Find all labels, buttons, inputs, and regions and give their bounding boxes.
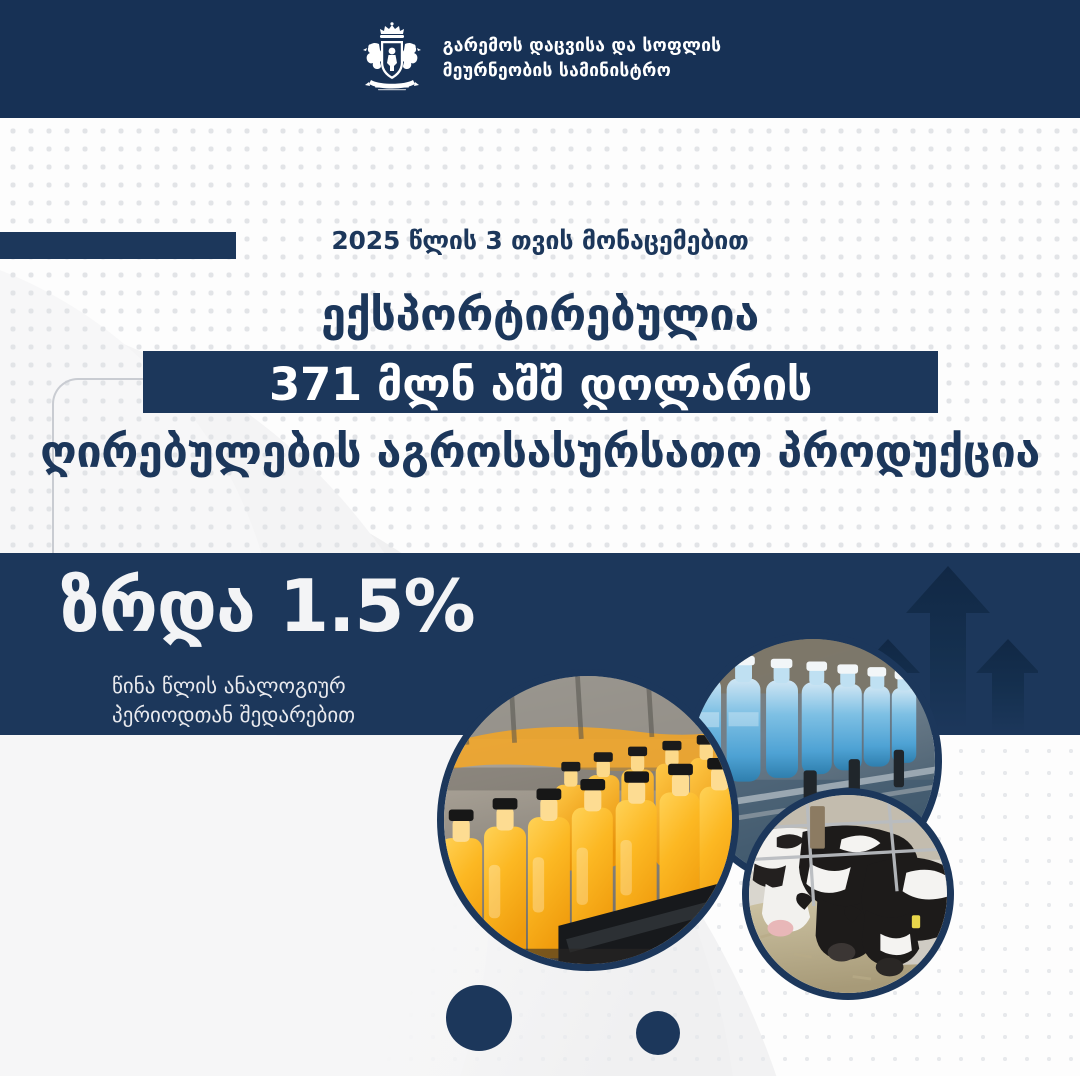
decorative-dot-large <box>446 985 512 1051</box>
headline-line-3: ღირებულების აგროსასურსათო პროდუქცია <box>0 423 1080 482</box>
headline-line-1: ექსპორტირებულია <box>0 288 1080 341</box>
growth-subtext: წინა წლის ანალოგიურ პერიოდთან შედარებით <box>112 672 355 729</box>
kicker-text: 2025 წლის 3 თვის მონაცემებით <box>0 226 1080 255</box>
ministry-name: გარემოს დაცვისა და სოფლის მეურნეობის სამ… <box>443 34 722 84</box>
headline-line-2-highlight: 371 მლნ აშშ დოლარის <box>143 353 938 415</box>
infographic-poster: გარემოს დაცვისა და სოფლის მეურნეობის სამ… <box>0 0 1080 1076</box>
ministry-header: გარემოს დაცვისა და სოფლის მეურნეობის სამ… <box>0 0 1080 118</box>
juice-bottles-photo <box>437 669 739 971</box>
georgia-coat-of-arms-icon <box>359 22 425 96</box>
decorative-dot-small <box>636 1011 680 1055</box>
dairy-cows-photo <box>742 788 954 1000</box>
growth-headline: ზრდა 1.5% <box>60 570 475 642</box>
